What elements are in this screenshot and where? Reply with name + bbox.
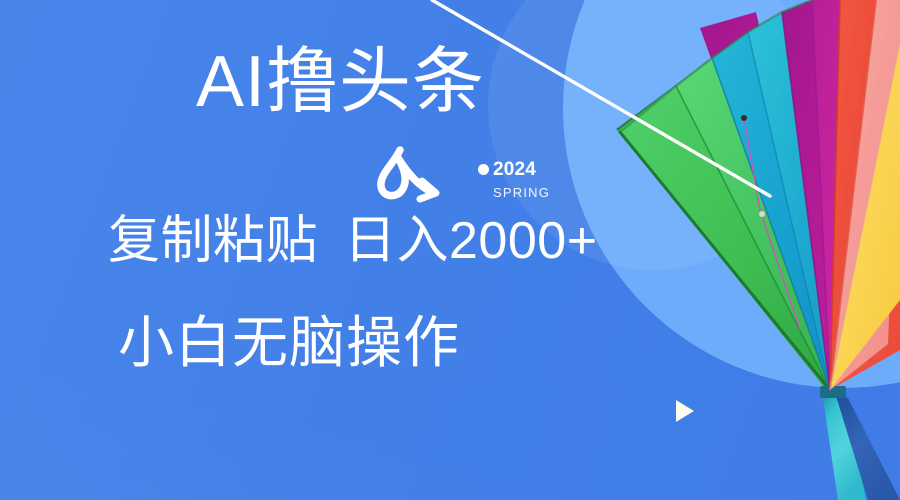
text-content-layer: AI撸头条 2024 SPRING 复制粘贴日入2000+ 小白无脑操作 bbox=[0, 0, 900, 500]
tagline: 小白无脑操作 bbox=[118, 315, 460, 371]
page-title: AI撸头条 bbox=[196, 46, 485, 118]
season-badge: 2024 SPRING bbox=[478, 160, 550, 199]
filled-circle-icon bbox=[478, 164, 489, 175]
season-badge-row: 2024 bbox=[478, 160, 550, 179]
subheadline-left: 复制粘贴 bbox=[108, 212, 318, 270]
promo-poster: AI撸头条 2024 SPRING 复制粘贴日入2000+ 小白无脑操作 bbox=[0, 0, 900, 500]
subheadline-right: 日入2000+ bbox=[344, 212, 598, 270]
season-badge-year: 2024 bbox=[493, 160, 536, 179]
season-badge-label: SPRING bbox=[493, 186, 550, 199]
subheadline: 复制粘贴日入2000+ bbox=[108, 215, 598, 267]
